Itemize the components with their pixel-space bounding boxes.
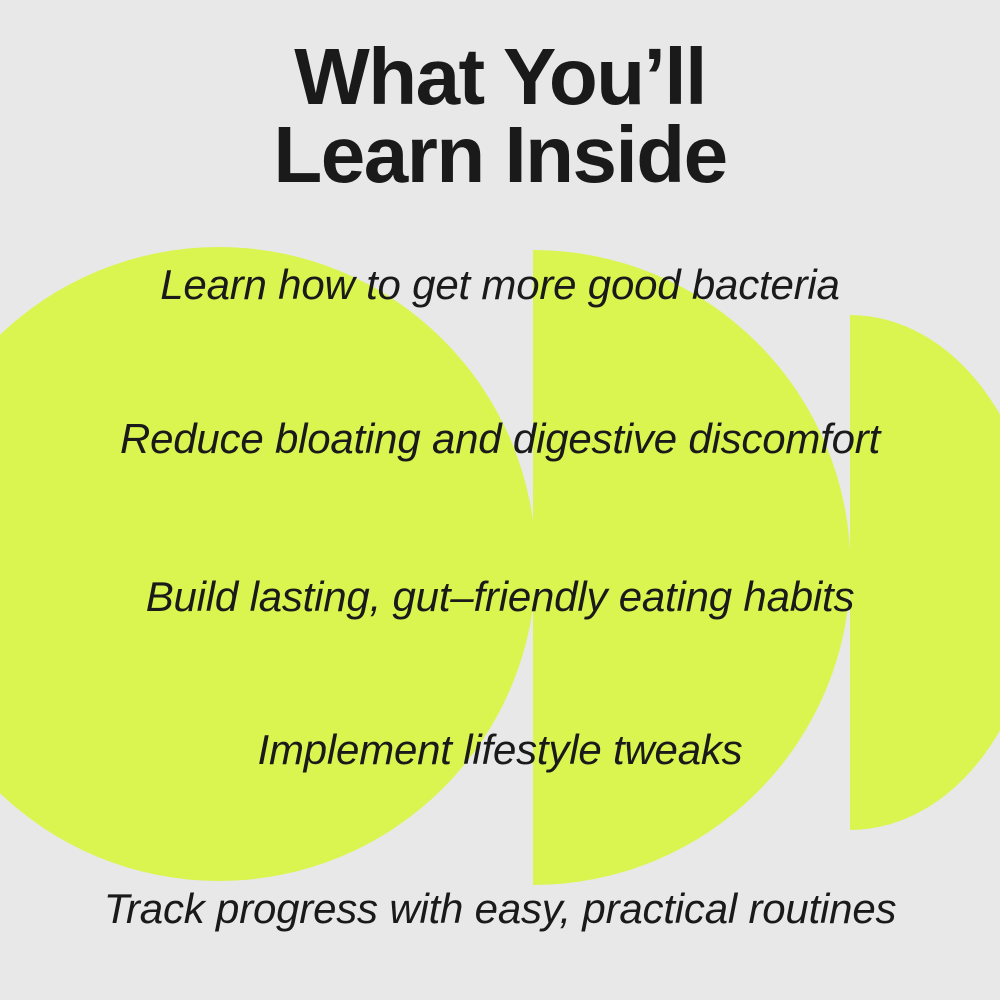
- poster-canvas: What You’ll Learn Inside Learn how to ge…: [0, 0, 1000, 1000]
- benefit-item-3: Build lasting, gut–friendly eating habit…: [0, 576, 1000, 618]
- benefit-item-5: Track progress with easy, practical rout…: [0, 888, 1000, 930]
- benefits-list: Learn how to get more good bacteria Redu…: [0, 246, 1000, 990]
- benefit-item-2: Reduce bloating and digestive discomfort: [0, 418, 1000, 460]
- page-title-line-2: Learn Inside: [0, 116, 1000, 194]
- page-title: What You’ll Learn Inside: [0, 38, 1000, 193]
- benefit-item-4: Implement lifestyle tweaks: [0, 729, 1000, 771]
- page-title-line-1: What You’ll: [0, 38, 1000, 116]
- benefit-item-1: Learn how to get more good bacteria: [0, 264, 1000, 306]
